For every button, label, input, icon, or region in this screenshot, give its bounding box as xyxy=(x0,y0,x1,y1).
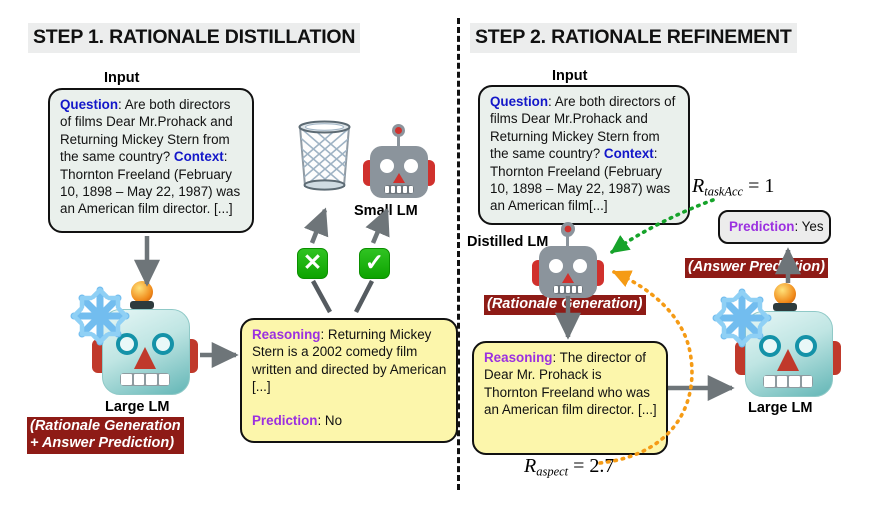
large-lm-caption-right: Large LM xyxy=(748,400,812,416)
trash-can-icon xyxy=(296,118,353,194)
reward-task-acc-eq: = 1 xyxy=(743,175,774,197)
robot-eye-left xyxy=(549,259,563,273)
robot-antenna-bulb xyxy=(395,127,402,134)
robot-antenna-base xyxy=(130,301,154,309)
prediction-value: : Yes xyxy=(794,218,823,235)
robot-eye-right xyxy=(404,159,418,173)
step1-title: STEP 1. RATIONALE DISTILLATION xyxy=(28,23,360,53)
action-label-rationale-generation: (Rationale Generation) xyxy=(484,295,646,315)
input-box-right: Question: Are both directors of films De… xyxy=(478,85,690,225)
question-label-right: Question xyxy=(490,94,548,109)
action-label-line2: + Answer Prediction) xyxy=(30,435,181,452)
robot-tooth xyxy=(554,286,558,293)
robot-nose xyxy=(562,273,574,283)
reasoning-label-right: Reasoning xyxy=(484,350,552,365)
input-caption-right: Input xyxy=(552,68,587,84)
action-label-rationale-and-answer: (Rationale Generation + Answer Predictio… xyxy=(27,417,184,454)
prediction-label: Prediction xyxy=(729,218,794,235)
context-label-left: Context xyxy=(174,149,224,164)
reward-aspect-eq: = 2.7 xyxy=(568,455,614,477)
line-rationale-to-accept xyxy=(356,281,372,312)
robot-tooth xyxy=(789,376,800,387)
robot-eye-right xyxy=(573,259,587,273)
robot-nose xyxy=(393,173,405,183)
robot-eye-left xyxy=(380,159,394,173)
distilled-lm-caption: Distilled LM xyxy=(467,233,527,252)
robot-tooth xyxy=(578,286,582,293)
robot-mouth xyxy=(553,285,583,294)
robot-tooth xyxy=(764,376,775,387)
robot-tooth xyxy=(397,186,401,193)
robot-antenna-bulb xyxy=(564,227,571,234)
reasoning-label-left: Reasoning xyxy=(252,327,320,342)
large-lm-robot-icon-right xyxy=(733,287,843,399)
robot-tooth xyxy=(159,374,170,385)
robot-antenna-base xyxy=(773,303,797,311)
rationale-box-right: Reasoning: The director of Dear Mr. Proh… xyxy=(472,341,668,455)
reward-aspect-var: R xyxy=(524,455,536,477)
context-label-right: Context xyxy=(604,146,654,161)
robot-tooth xyxy=(146,374,157,385)
reward-task-acc-sub: taskAcc xyxy=(704,185,743,199)
robot-antenna-bulb xyxy=(774,283,796,305)
robot-tooth xyxy=(134,374,145,385)
robot-antenna-bulb xyxy=(131,281,153,303)
small-lm-robot-icon xyxy=(362,122,436,198)
robot-tooth xyxy=(777,376,788,387)
input-caption-left: Input xyxy=(104,70,139,86)
robot-tooth xyxy=(409,186,413,193)
arrow-reject-to-trash xyxy=(312,210,325,243)
robot-nose xyxy=(777,349,799,371)
robot-tooth xyxy=(566,286,570,293)
prediction-label-left: Prediction xyxy=(252,413,317,428)
rationale-box-left: Reasoning: Returning Mickey Stern is a 2… xyxy=(240,318,458,443)
robot-tooth xyxy=(391,186,395,193)
robot-tooth xyxy=(802,376,813,387)
robot-mouth xyxy=(384,185,414,194)
robot-tooth xyxy=(121,374,132,385)
step2-title: STEP 2. RATIONALE REFINEMENT xyxy=(470,23,797,53)
action-label-line1: (Rationale Generation xyxy=(30,418,181,435)
large-lm-caption-left: Large LM xyxy=(105,399,169,415)
reward-task-acc: RtaskAcc = 1 xyxy=(692,175,774,200)
input-box-left: Question: Are both directors of films De… xyxy=(48,88,254,233)
prediction-box: Prediction: Yes xyxy=(718,210,831,244)
reject-mark-icon: ✕ xyxy=(297,248,328,279)
robot-nose xyxy=(134,347,156,369)
robot-tooth xyxy=(572,286,576,293)
prediction-text-left: : No xyxy=(317,413,342,428)
reward-aspect-sub: aspect xyxy=(536,465,568,479)
reward-aspect: Raspect = 2.7 xyxy=(524,455,614,480)
reward-task-acc-var: R xyxy=(692,175,704,197)
action-label-answer-prediction: (Answer Prediction) xyxy=(685,258,828,278)
question-label-left: Question xyxy=(60,97,118,112)
diagram-canvas: STEP 1. RATIONALE DISTILLATION STEP 2. R… xyxy=(0,0,870,508)
small-lm-caption: Small LM xyxy=(354,203,418,219)
robot-mouth xyxy=(120,373,170,386)
robot-tooth xyxy=(403,186,407,193)
accept-mark-icon: ✓ xyxy=(359,248,390,279)
large-lm-robot-icon-left xyxy=(90,285,200,397)
robot-mouth xyxy=(763,375,813,388)
line-rationale-to-reject xyxy=(313,281,330,312)
robot-tooth xyxy=(385,186,389,193)
distilled-lm-robot-icon xyxy=(531,222,605,298)
robot-tooth xyxy=(560,286,564,293)
